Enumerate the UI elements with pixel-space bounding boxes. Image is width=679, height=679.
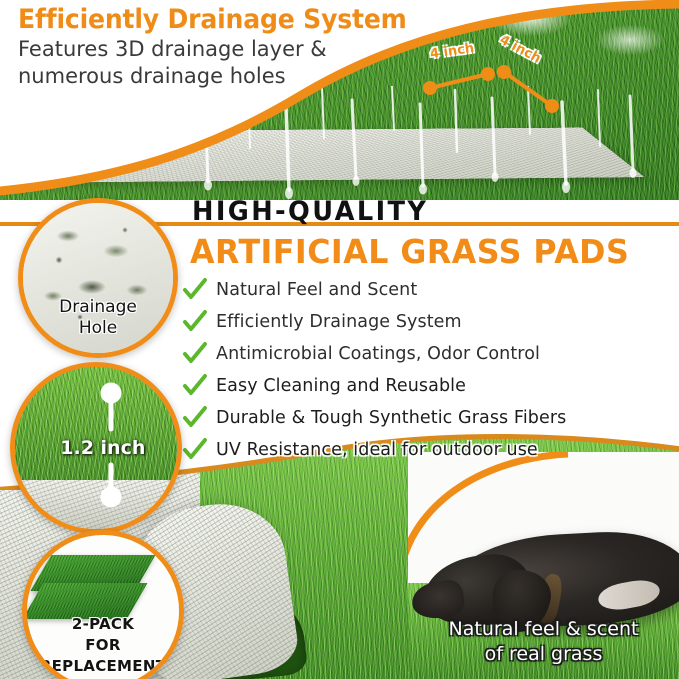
feature-item: Durable & Tough Synthetic Grass Fibers <box>182 402 662 433</box>
check-icon <box>182 342 208 366</box>
check-icon <box>182 406 208 430</box>
eyebrow-heading: HIGH-QUALITY <box>192 196 428 227</box>
feature-item: Natural Feel and Scent <box>182 274 662 305</box>
feature-label: Easy Cleaning and Reusable <box>216 376 466 396</box>
dog-photo-card: Natural feel & scent of real grass <box>408 452 679 679</box>
feature-label: Antimicrobial Coatings, Odor Control <box>216 344 540 364</box>
feature-label: Durable & Tough Synthetic Grass Fibers <box>216 408 566 428</box>
callout-two-pack: 2-PACK FOR REPLACEMENT <box>22 530 184 679</box>
feature-item: Easy Cleaning and Reusable <box>182 370 662 401</box>
feature-item: Antimicrobial Coatings, Odor Control <box>182 338 662 369</box>
check-icon <box>182 374 208 398</box>
page-subtitle: Features 3D drainage layer & numerous dr… <box>18 36 327 90</box>
main-headline: ARTIFICIAL GRASS PADS <box>190 232 629 271</box>
callout-two-pack-label: 2-PACK FOR REPLACEMENT <box>27 614 179 677</box>
callout-drainage-hole-label: Drainage Hole <box>23 297 173 339</box>
feature-label: Efficiently Drainage System <box>216 312 462 332</box>
drainage-mat-photo <box>4 128 644 183</box>
feature-item: Efficiently Drainage System <box>182 306 662 337</box>
feature-label: Natural Feel and Scent <box>216 280 417 300</box>
feature-label: UV Resistance, ideal for outdoor use <box>216 440 538 460</box>
check-icon <box>182 310 208 334</box>
callout-pile-height-label: 1.2 inch <box>60 437 145 459</box>
feature-item: UV Resistance, ideal for outdoor use <box>182 434 662 465</box>
check-icon <box>182 278 208 302</box>
callout-drainage-hole: Drainage Hole <box>18 198 178 358</box>
check-icon <box>182 438 208 462</box>
page-title: Efficiently Drainage System <box>18 4 407 35</box>
product-infographic: 4 inch 4 inch Efficiently Drainage Syste… <box>0 0 679 679</box>
callout-pile-height: 1.2 inch <box>10 362 182 534</box>
dog-photo-caption: Natural feel & scent of real grass <box>408 617 679 667</box>
feature-list: Natural Feel and Scent Efficiently Drain… <box>182 274 662 466</box>
